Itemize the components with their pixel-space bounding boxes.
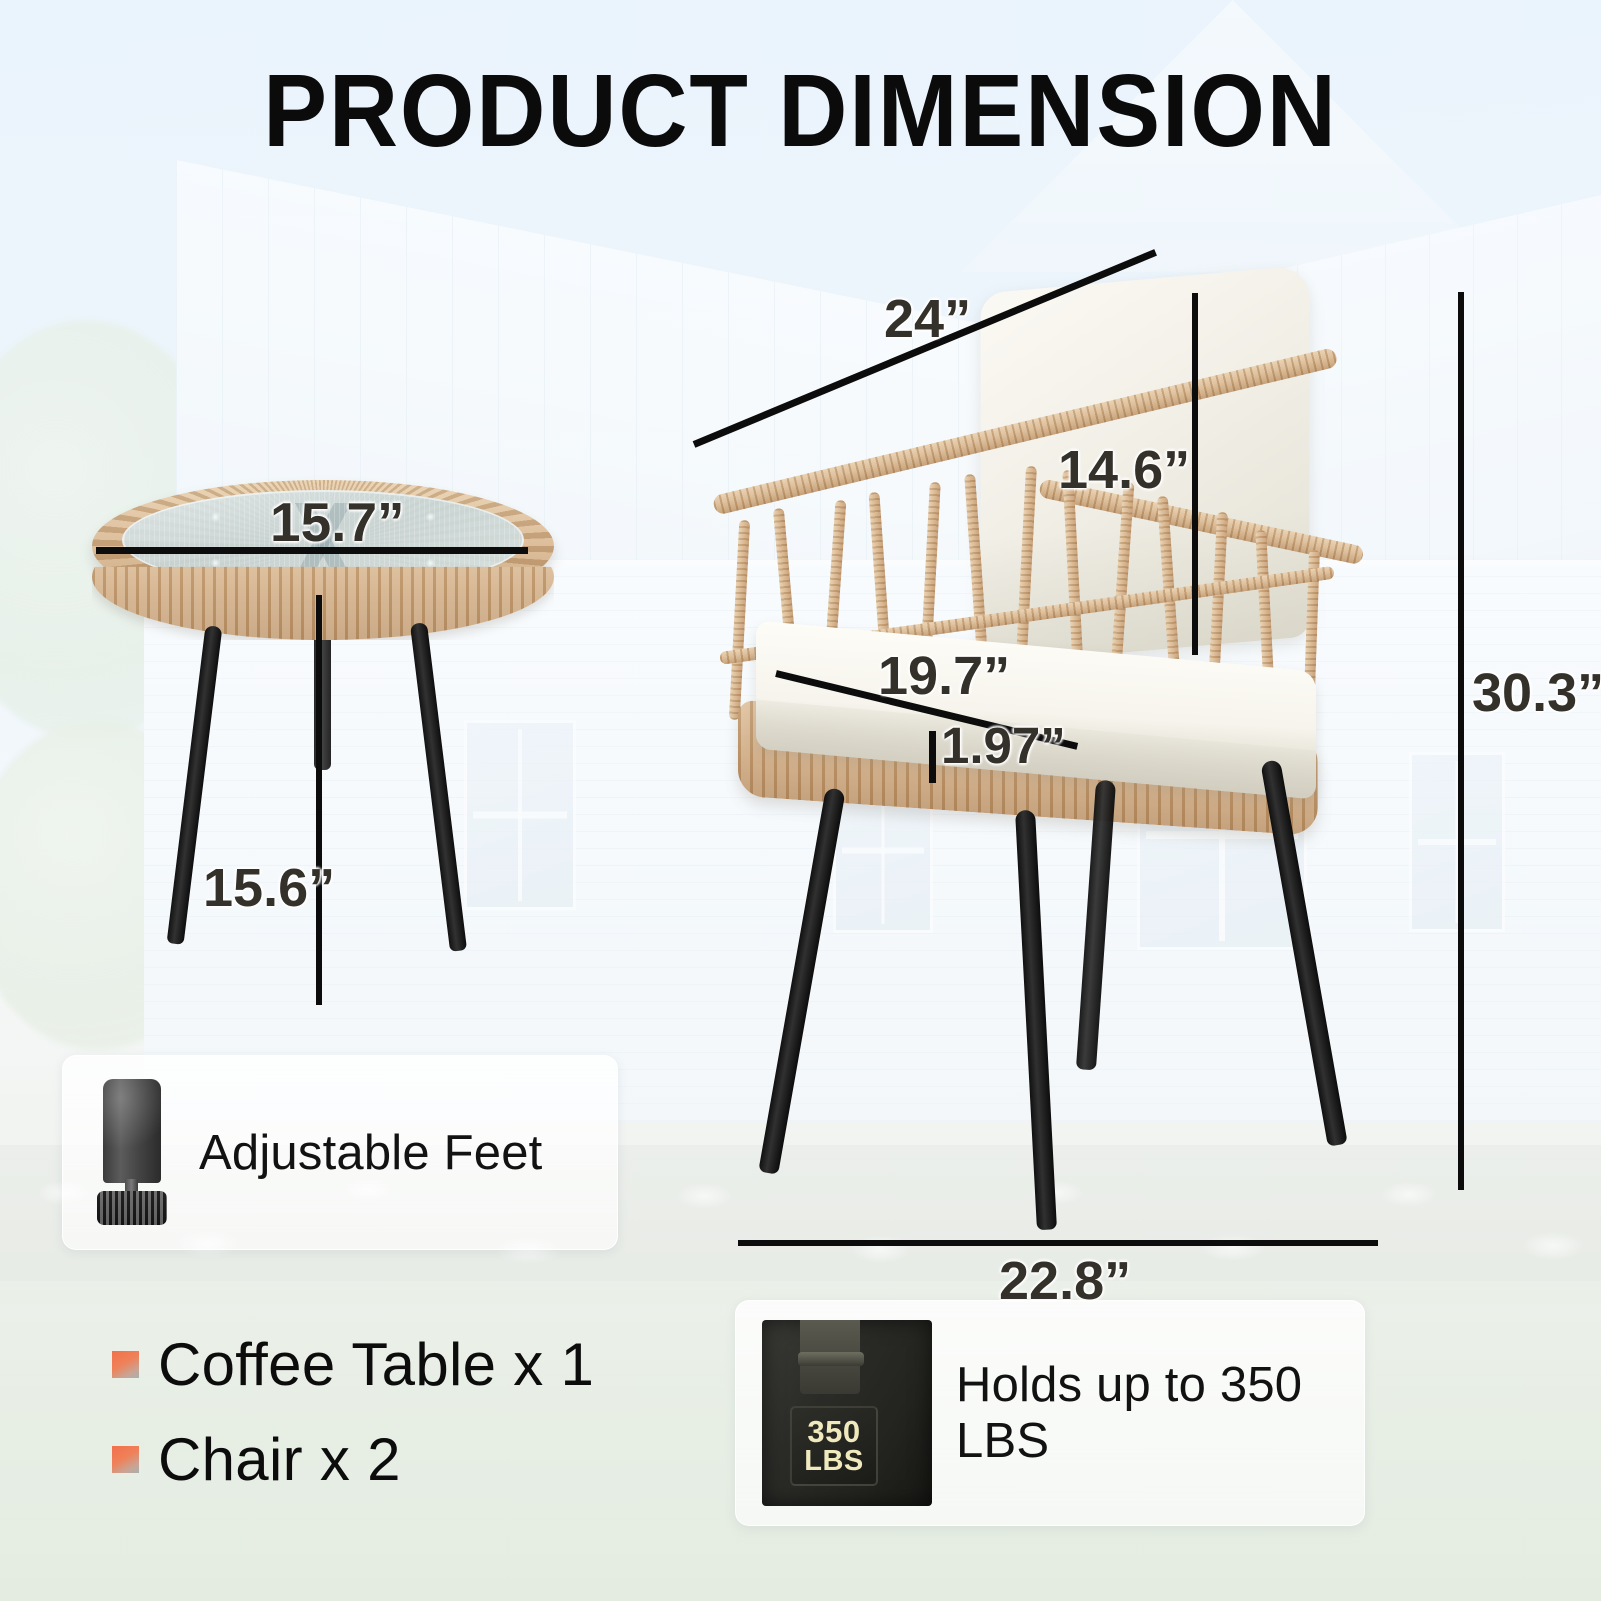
bullet-square-icon bbox=[112, 1351, 139, 1378]
chair-leg-rear-left bbox=[1076, 780, 1116, 1071]
dimension-label-table-diameter: 15.7” bbox=[270, 490, 405, 554]
chair-leg-front-left bbox=[758, 787, 845, 1175]
page-title: PRODUCT DIMENSION bbox=[56, 52, 1545, 170]
package-item-label: Chair x 2 bbox=[158, 1425, 401, 1494]
table-leg-right bbox=[410, 622, 467, 952]
adjustable-feet-panel: Adjustable Feet bbox=[62, 1055, 618, 1250]
weight-capacity-panel: 350 LBS Holds up to 350 LBS bbox=[735, 1300, 1365, 1526]
weight-block-icon: 350 LBS bbox=[762, 1320, 932, 1506]
dimension-line-table-height bbox=[316, 595, 322, 1005]
coffee-table-illustration bbox=[78, 470, 578, 1060]
weight-block-unit: LBS bbox=[804, 1447, 864, 1476]
adjustable-feet-label: Adjustable Feet bbox=[199, 1125, 543, 1181]
dimension-label-table-height: 15.6” bbox=[203, 857, 335, 919]
dimension-label-back-height: 14.6” bbox=[1058, 439, 1190, 501]
dimension-line-cushion-thickness bbox=[929, 731, 936, 783]
dimension-line-back-height bbox=[1192, 293, 1198, 655]
dimension-label-seat-width: 19.7” bbox=[878, 645, 1010, 707]
weight-block-plate: 350 LBS bbox=[790, 1406, 878, 1486]
list-item: Coffee Table x 1 bbox=[112, 1330, 594, 1399]
dimension-line-chair-width bbox=[738, 1240, 1378, 1246]
weight-capacity-label: Holds up to 350 LBS bbox=[956, 1357, 1364, 1469]
dimension-label-cushion-thickness: 1.97” bbox=[941, 716, 1066, 775]
list-item: Chair x 2 bbox=[112, 1425, 594, 1494]
dimension-line-chair-height bbox=[1458, 292, 1464, 1190]
adjustable-foot-icon bbox=[89, 1079, 175, 1227]
weight-block-number: 350 bbox=[807, 1416, 860, 1447]
chair-leg-front-right bbox=[1015, 810, 1057, 1230]
bullet-square-icon bbox=[112, 1446, 139, 1473]
dimension-label-chair-height: 30.3” bbox=[1472, 662, 1601, 724]
package-contents-list: Coffee Table x 1 Chair x 2 bbox=[112, 1330, 594, 1520]
dimension-label-chair-depth: 24” bbox=[884, 288, 971, 350]
package-item-label: Coffee Table x 1 bbox=[158, 1330, 594, 1399]
infographic-canvas: PRODUCT DIMENSION bbox=[0, 0, 1601, 1601]
